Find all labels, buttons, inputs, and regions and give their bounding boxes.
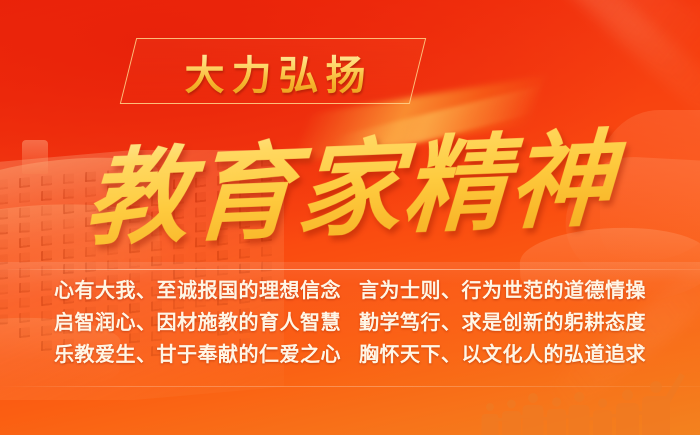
slogan-line: 启智润心、因材施教的育人智慧 <box>54 308 341 338</box>
slogan-column-left: 心有大我、至诚报国的理想信念 启智润心、因材施教的育人智慧 乐教爱生、甘于奉献的… <box>54 276 341 370</box>
slogan-line: 言为士则、行为世范的道德情操 <box>359 276 646 306</box>
banner-label: 大力弘扬 <box>150 44 400 100</box>
slogan-line: 心有大我、至诚报国的理想信念 <box>54 276 341 306</box>
poster-root: 大力弘扬 教育家精神 心有大我、至诚报国的理想信念 启智润心、因材施教的育人智慧… <box>0 0 700 435</box>
slogan-line: 乐教爱生、甘于奉献的仁爱之心 <box>54 340 341 370</box>
page-title: 教育家精神 <box>0 112 700 269</box>
slogan-line: 胸怀天下、以文化人的弘道追求 <box>359 340 646 370</box>
slogan-block: 心有大我、至诚报国的理想信念 启智润心、因材施教的育人智慧 乐教爱生、甘于奉献的… <box>0 276 700 370</box>
slogan-column-right: 言为士则、行为世范的道德情操 勤学笃行、求是创新的躬耕态度 胸怀天下、以文化人的… <box>359 276 646 370</box>
slogan-line: 勤学笃行、求是创新的躬耕态度 <box>359 308 646 338</box>
